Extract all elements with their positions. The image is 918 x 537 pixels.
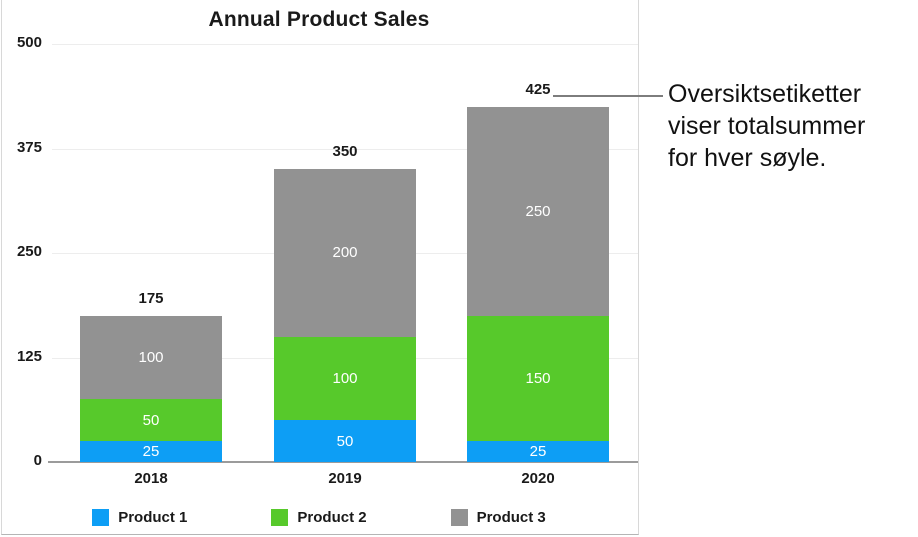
legend-color-swatch [92, 509, 109, 526]
bar-segment[interactable]: 250 [467, 107, 609, 316]
bar-segment[interactable]: 100 [80, 316, 222, 400]
bar-segment[interactable]: 100 [274, 337, 416, 421]
plot-area: 0125250375500255010017520185010020035020… [0, 0, 638, 537]
bar-total-label: 175 [80, 290, 222, 307]
bar-segment[interactable]: 25 [467, 441, 609, 462]
legend-item[interactable]: Product 3 [451, 509, 546, 526]
bar-segment-value-label: 25 [143, 443, 160, 460]
bar-segment-value-label: 150 [525, 370, 550, 387]
callout-annotation-text: Oversiktsetiketterviser totalsummerfor h… [668, 78, 916, 174]
bar-segment-value-label: 50 [337, 433, 354, 450]
y-axis-tick-label: 250 [0, 243, 42, 260]
chart-legend: Product 1Product 2Product 3 [0, 509, 638, 526]
bar-segment-value-label: 100 [138, 349, 163, 366]
legend-item[interactable]: Product 1 [92, 509, 187, 526]
y-axis-tick-label: 375 [0, 139, 42, 156]
callout-leader-line [553, 95, 663, 97]
x-axis-category-label: 2018 [80, 470, 222, 487]
bar-segment-value-label: 250 [525, 203, 550, 220]
bar-segment[interactable]: 150 [467, 316, 609, 441]
y-axis-tick-label: 500 [0, 34, 42, 51]
bar-segment[interactable]: 50 [80, 399, 222, 441]
bar-segment[interactable]: 50 [274, 420, 416, 462]
y-axis-tick-label: 0 [0, 452, 42, 469]
callout-text-line: Oversiktsetiketter [668, 78, 916, 110]
bar-segment-value-label: 100 [332, 370, 357, 387]
legend-item[interactable]: Product 2 [271, 509, 366, 526]
bar-segment[interactable]: 200 [274, 169, 416, 336]
callout-text-line: viser totalsummer [668, 110, 916, 142]
bar-segment-value-label: 50 [143, 412, 160, 429]
y-axis-tick-label: 125 [0, 348, 42, 365]
legend-color-swatch [271, 509, 288, 526]
x-axis-category-label: 2019 [274, 470, 416, 487]
legend-label: Product 3 [477, 509, 546, 526]
bar-segment-value-label: 25 [530, 443, 547, 460]
bar-segment[interactable]: 25 [80, 441, 222, 462]
callout-text-line: for hver søyle. [668, 142, 916, 174]
bar-segment-value-label: 200 [332, 244, 357, 261]
x-axis-category-label: 2020 [467, 470, 609, 487]
bar-stack[interactable]: 50100200 [274, 0, 416, 537]
legend-label: Product 2 [297, 509, 366, 526]
legend-color-swatch [451, 509, 468, 526]
bar-total-label: 350 [274, 143, 416, 160]
legend-label: Product 1 [118, 509, 187, 526]
bar-stack[interactable]: 2550100 [80, 0, 222, 537]
